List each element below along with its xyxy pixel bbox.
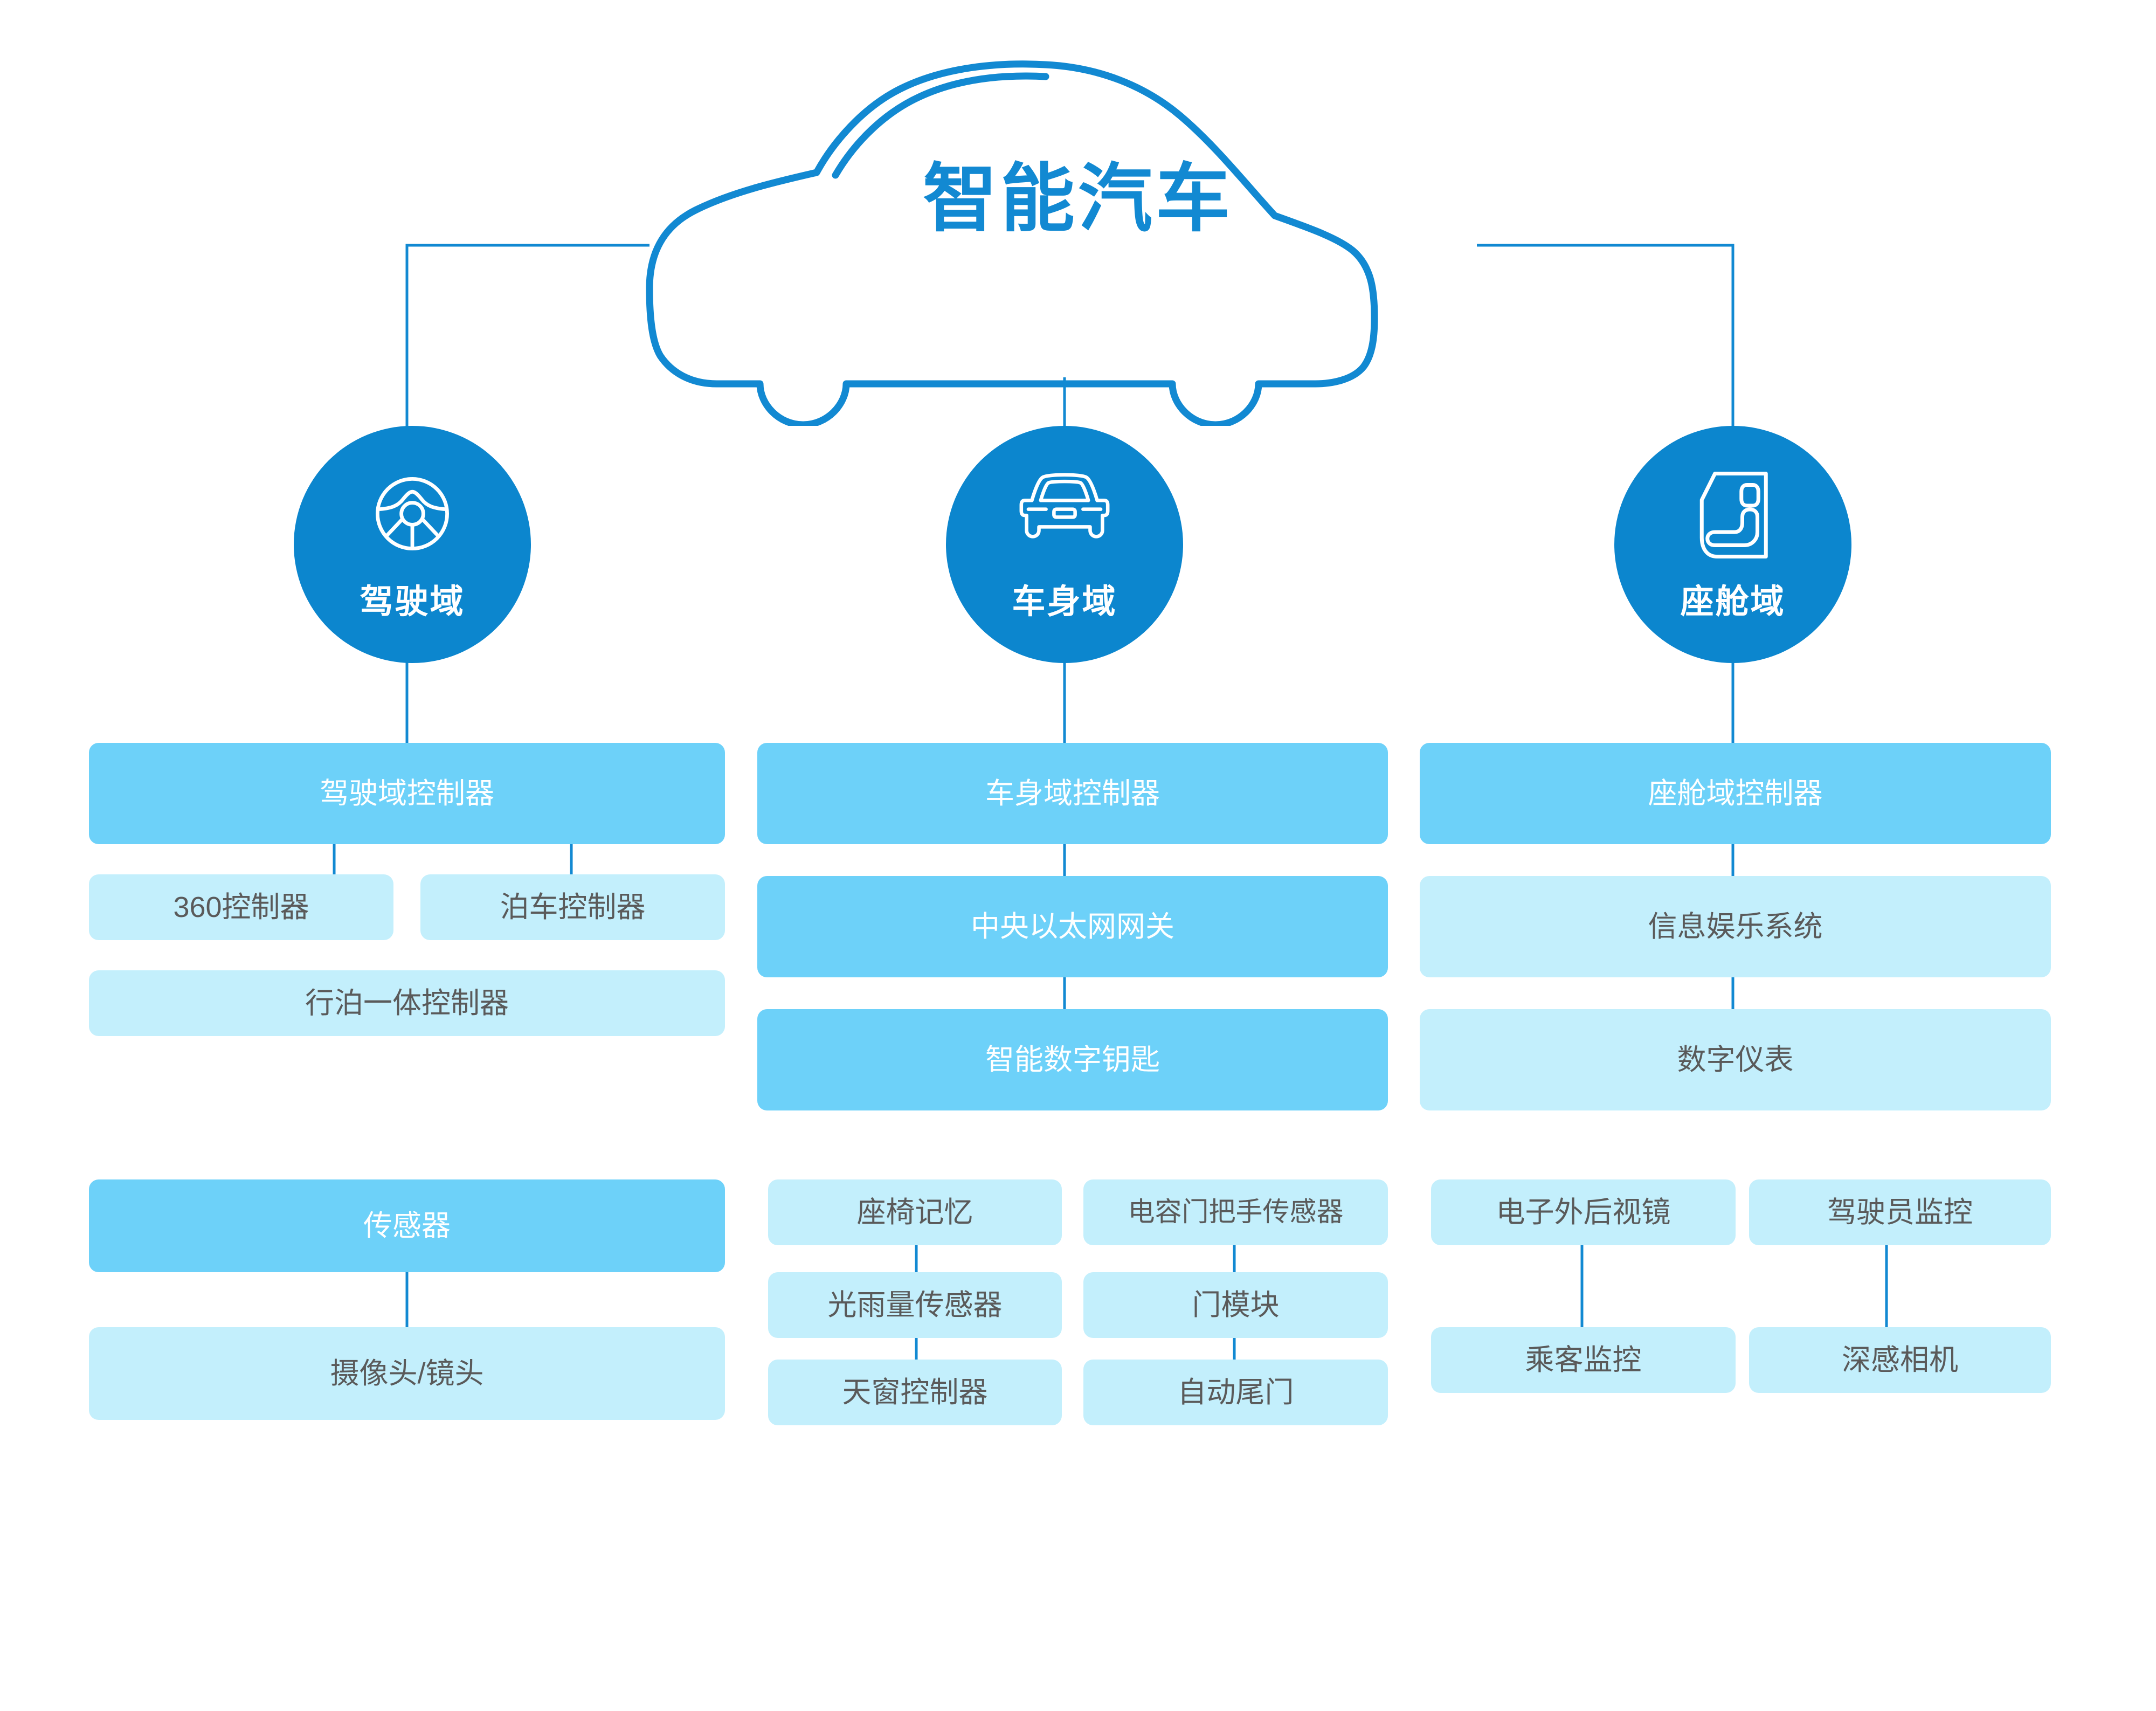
box-passenger-monitoring[interactable]: 乘客监控 [1431,1327,1736,1393]
box-driver-monitoring[interactable]: 驾驶员监控 [1749,1179,2051,1245]
car-front-icon [946,468,1183,551]
box-depth-camera[interactable]: 深感相机 [1749,1327,2051,1393]
box-infotainment-system[interactable]: 信息娱乐系统 [1420,876,2051,977]
box-sunroof-controller[interactable]: 天窗控制器 [768,1360,1062,1425]
box-cockpit-controller[interactable]: 座舱域控制器 [1420,743,2051,844]
box-seat-memory[interactable]: 座椅记忆 [768,1179,1062,1245]
box-body-controller[interactable]: 车身域控制器 [757,743,1388,844]
box-central-ethernet-gateway[interactable]: 中央以太网网关 [757,876,1388,977]
domain-circle-body[interactable]: 车身域 [946,426,1183,663]
box-driving-parking-integrated-controller[interactable]: 行泊一体控制器 [89,970,725,1036]
domain-label-body: 车身域 [946,574,1183,623]
domain-circle-cockpit[interactable]: 座舱域 [1614,426,1851,663]
box-parking-controller[interactable]: 泊车控制器 [420,874,725,940]
steering-wheel-icon [294,468,531,562]
box-360-controller[interactable]: 360控制器 [89,874,393,940]
box-door-module[interactable]: 门模块 [1083,1272,1388,1338]
car-seat-icon [1614,468,1851,565]
domain-label-cockpit: 座舱域 [1614,574,1851,623]
box-electronic-exterior-mirror[interactable]: 电子外后视镜 [1431,1179,1736,1245]
box-power-tailgate[interactable]: 自动尾门 [1083,1360,1388,1425]
box-camera-lens[interactable]: 摄像头/镜头 [89,1327,725,1420]
diagram-canvas: 智能汽车 驾驶域 车身域 [0,0,2156,1711]
domain-circle-driving[interactable]: 驾驶域 [294,426,531,663]
box-digital-cluster[interactable]: 数字仪表 [1420,1009,2051,1110]
domain-label-driving: 驾驶域 [294,574,531,623]
box-driving-controller[interactable]: 驾驶域控制器 [89,743,725,844]
page-title: 智能汽车 [620,162,1536,236]
box-capacitive-door-handle-sensor[interactable]: 电容门把手传感器 [1083,1179,1388,1245]
box-smart-digital-key[interactable]: 智能数字钥匙 [757,1009,1388,1110]
box-sensor-header[interactable]: 传感器 [89,1179,725,1272]
box-light-rain-sensor[interactable]: 光雨量传感器 [768,1272,1062,1338]
